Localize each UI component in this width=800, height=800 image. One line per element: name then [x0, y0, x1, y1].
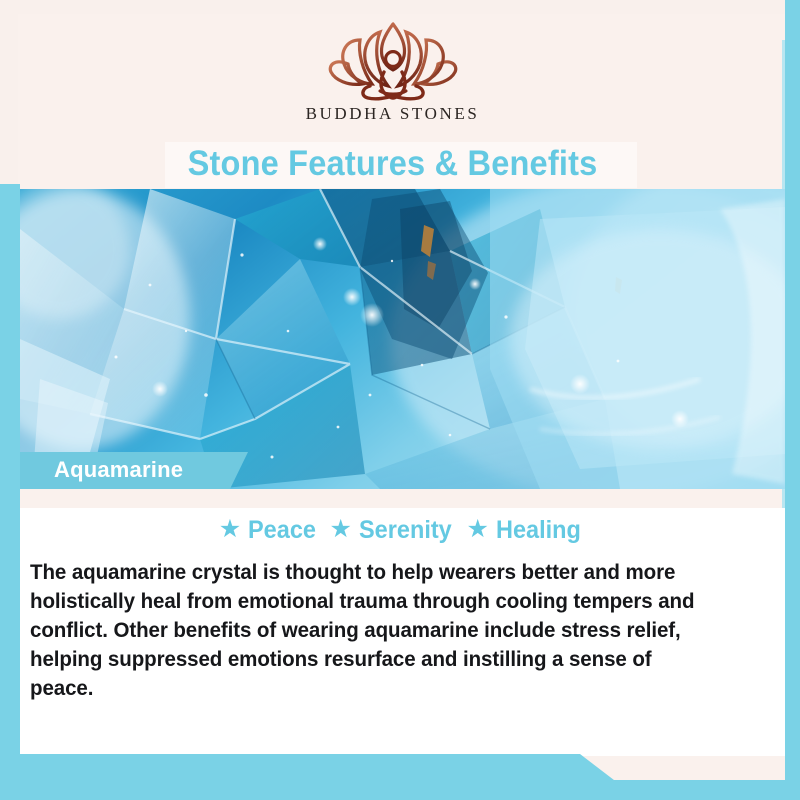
description-paragraph: The aquamarine crystal is thought to hel…: [30, 558, 720, 703]
benefit-label: Peace: [248, 516, 316, 545]
benefits-row: ★ Peace ★ Serenity ★ Healing: [20, 516, 785, 545]
star-icon: ★: [329, 517, 351, 542]
stone-name-label: Aquamarine: [54, 457, 183, 483]
benefit-item: ★ Serenity: [329, 516, 457, 545]
lotus-meditation-icon: [318, 18, 468, 102]
frame-left-accent: [0, 184, 20, 784]
benefit-item: ★ Peace: [219, 516, 321, 545]
poster-root: BUDDHA STONES Stone Features & Benefits: [0, 0, 800, 800]
frame-right-accent: [785, 0, 800, 800]
benefit-label: Serenity: [359, 516, 452, 545]
hero-crystal-image: [20, 189, 785, 489]
brand-name: BUDDHA STONES: [306, 104, 480, 124]
benefit-label: Healing: [496, 516, 581, 545]
crystal-photo-graphic: [20, 189, 785, 489]
star-icon: ★: [467, 517, 489, 542]
star-icon: ★: [219, 517, 241, 542]
brand-logo: BUDDHA STONES: [0, 18, 785, 140]
frame-bottom-accent: [0, 754, 640, 800]
page-title: Stone Features & Benefits: [27, 144, 757, 184]
benefit-item: ★ Healing: [467, 516, 587, 545]
